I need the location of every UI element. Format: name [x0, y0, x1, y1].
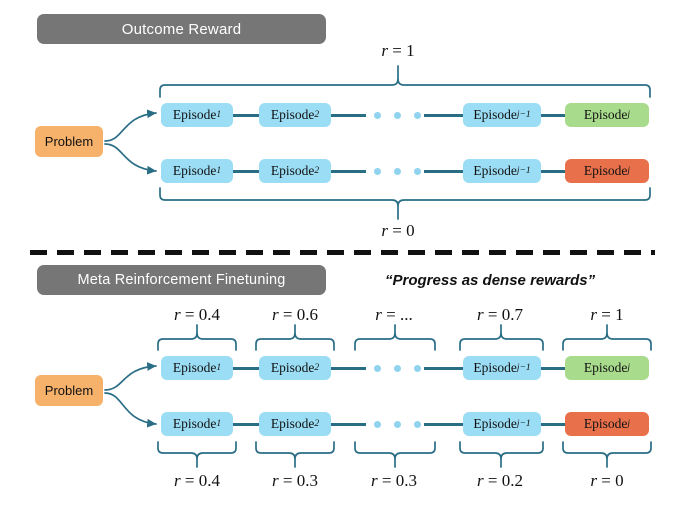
reward-label-step: r = 0.3: [245, 471, 345, 491]
episode-node-label: Episode: [271, 360, 315, 376]
branch-arrow-top: [105, 366, 156, 390]
brace-step-group-failure: [158, 442, 651, 467]
episode-node-label: Episode: [473, 360, 517, 376]
connector-link: [232, 170, 260, 173]
episode-node-label: Episode: [173, 360, 217, 376]
episode-node-label: Episode: [271, 416, 315, 432]
episode-node[interactable]: Episode1: [161, 412, 233, 436]
reward-label-trajectory-success: r = 1: [348, 41, 448, 61]
episode-node-index: j−1: [517, 363, 531, 373]
connector-link: [330, 114, 366, 117]
ellipsis-dot: [414, 365, 421, 372]
connector-link: [424, 367, 464, 370]
reward-label-step: r = ...: [344, 305, 444, 325]
episode-node-terminal-failure[interactable]: Episodej: [565, 159, 649, 183]
episode-node[interactable]: Episode2: [259, 159, 331, 183]
connector-link: [424, 114, 464, 117]
reward-label-step: r = 0.4: [147, 305, 247, 325]
episode-node-index: j: [627, 363, 630, 373]
reward-label-step: r = 0.6: [245, 305, 345, 325]
episode-node[interactable]: Episodej−1: [463, 103, 541, 127]
ellipsis-dot: [374, 365, 381, 372]
episode-node[interactable]: Episode1: [161, 356, 233, 380]
episode-node-label: Episode: [271, 163, 315, 179]
brace-step-group-success: [158, 325, 651, 350]
episode-node[interactable]: Episodej−1: [463, 412, 541, 436]
episode-node-index: j−1: [517, 166, 531, 176]
episode-node-index: j−1: [517, 110, 531, 120]
episode-node-label: Episode: [173, 107, 217, 123]
episode-node-label: Episode: [473, 416, 517, 432]
connector-link: [330, 170, 366, 173]
ellipsis-dot: [374, 421, 381, 428]
reward-label-trajectory-failure: r = 0: [348, 221, 448, 241]
connector-link: [424, 423, 464, 426]
connector-link: [330, 423, 366, 426]
connector-link: [540, 423, 566, 426]
episode-node-terminal-failure[interactable]: Episodej: [565, 412, 649, 436]
episode-node[interactable]: Episode2: [259, 356, 331, 380]
ellipsis-dot: [374, 112, 381, 119]
episode-node[interactable]: Episode1: [161, 159, 233, 183]
problem-node-outcome[interactable]: Problem: [35, 126, 103, 157]
reward-label-step: r = 0: [557, 471, 657, 491]
episode-node[interactable]: Episode2: [259, 412, 331, 436]
episode-node-label: Episode: [271, 107, 315, 123]
episode-node-terminal-success[interactable]: Episodej: [565, 103, 649, 127]
episode-node-index: j−1: [517, 419, 531, 429]
branch-arrow-bottom: [105, 393, 156, 424]
brace-trajectory-success: [160, 79, 650, 97]
episode-node-label: Episode: [473, 107, 517, 123]
episode-node[interactable]: Episodej−1: [463, 356, 541, 380]
connector-link: [232, 423, 260, 426]
problem-node-merf[interactable]: Problem: [35, 375, 103, 406]
reward-label-step: r = 0.3: [344, 471, 444, 491]
episode-node-index: 1: [216, 166, 221, 176]
episode-node-label: Episode: [173, 163, 217, 179]
reward-label-step: r = 1: [557, 305, 657, 325]
connector-link: [540, 114, 566, 117]
connector-link: [232, 114, 260, 117]
episode-node-index: j: [627, 110, 630, 120]
episode-node-index: 2: [314, 419, 319, 429]
ellipsis-dot: [414, 112, 421, 119]
connector-link: [540, 170, 566, 173]
episode-node-label: Episode: [584, 163, 628, 179]
episode-node-index: 1: [216, 419, 221, 429]
connector-link: [232, 367, 260, 370]
section-title-outcome-reward: Outcome Reward: [37, 14, 326, 44]
episode-node-index: 2: [314, 110, 319, 120]
episode-node-label: Episode: [173, 416, 217, 432]
episode-node-index: 2: [314, 363, 319, 373]
ellipsis-dot: [374, 168, 381, 175]
reward-label-step: r = 0.2: [450, 471, 550, 491]
connector-link: [540, 367, 566, 370]
caption-progress-as-dense-rewards: “Progress as dense rewards”: [385, 266, 665, 294]
episode-node-index: 1: [216, 363, 221, 373]
episode-node[interactable]: Episode2: [259, 103, 331, 127]
ellipsis-dot: [394, 365, 401, 372]
episode-node-label: Episode: [584, 416, 628, 432]
branch-arrow-bottom: [105, 144, 156, 171]
ellipsis-dot: [394, 421, 401, 428]
branch-arrow-top: [105, 113, 156, 141]
brace-trajectory-failure: [160, 188, 650, 206]
episode-node-label: Episode: [584, 360, 628, 376]
ellipsis-dot: [414, 168, 421, 175]
episode-node-label: Episode: [473, 163, 517, 179]
episode-node[interactable]: Episode1: [161, 103, 233, 127]
episode-node-terminal-success[interactable]: Episodej: [565, 356, 649, 380]
episode-node-index: 2: [314, 166, 319, 176]
episode-node-index: j: [627, 166, 630, 176]
ellipsis-dot: [394, 112, 401, 119]
connector-link: [424, 170, 464, 173]
figure-canvas: Outcome Reward Meta Reinforcement Finetu…: [0, 0, 679, 510]
reward-label-step: r = 0.7: [450, 305, 550, 325]
episode-node-index: j: [627, 419, 630, 429]
section-divider-dashed: [30, 250, 655, 255]
section-title-meta-rl-finetuning: Meta Reinforcement Finetuning: [37, 265, 326, 295]
connector-link: [330, 367, 366, 370]
episode-node-index: 1: [216, 110, 221, 120]
ellipsis-dot: [394, 168, 401, 175]
reward-label-step: r = 0.4: [147, 471, 247, 491]
episode-node[interactable]: Episodej−1: [463, 159, 541, 183]
episode-node-label: Episode: [584, 107, 628, 123]
ellipsis-dot: [414, 421, 421, 428]
